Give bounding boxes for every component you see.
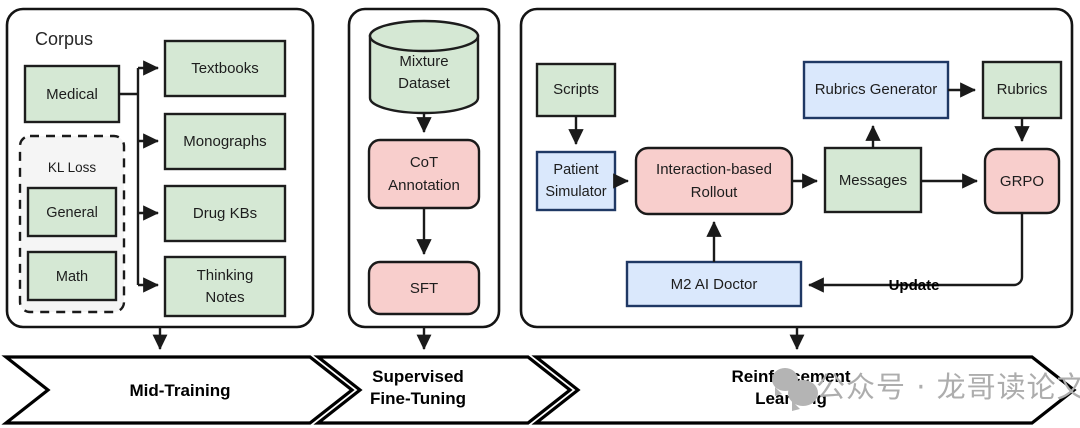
group-kl-loss-label: KL Loss bbox=[48, 160, 97, 175]
stage-label-sft-line1: Supervised bbox=[372, 367, 464, 386]
stage-label-mid-training: Mid-Training bbox=[129, 381, 230, 400]
node-cot-annotation-label-line1: CoT bbox=[410, 154, 438, 171]
node-grpo-label: GRPO bbox=[1000, 173, 1044, 190]
node-scripts-label: Scripts bbox=[553, 81, 599, 98]
node-medical-label: Medical bbox=[46, 86, 98, 103]
node-thinking-notes bbox=[165, 257, 285, 316]
node-drug-kbs-label: Drug KBs bbox=[193, 205, 257, 222]
panel-title-corpus: Corpus bbox=[35, 29, 93, 49]
stage-label-sft-line2: Fine-Tuning bbox=[370, 389, 466, 408]
stage-label-rl-line2: Learning bbox=[755, 389, 827, 408]
node-patient-simulator bbox=[537, 152, 615, 210]
node-sft-label: SFT bbox=[410, 280, 438, 297]
node-interaction-based-rollout-label-line1: Interaction-based bbox=[656, 161, 772, 178]
figure-canvas: Corpus Medical KL Loss General Math Text… bbox=[0, 0, 1080, 428]
node-thinking-notes-label-line1: Thinking bbox=[197, 267, 254, 284]
node-interaction-based-rollout bbox=[636, 148, 792, 214]
node-rubrics-label: Rubrics bbox=[997, 81, 1048, 98]
node-cot-annotation-label-line2: Annotation bbox=[388, 177, 460, 194]
stage-label-rl-line1: Reinforcement bbox=[731, 367, 850, 386]
node-m2-ai-doctor-label: M2 AI Doctor bbox=[671, 276, 758, 293]
edge-label-update: Update bbox=[889, 277, 940, 294]
node-thinking-notes-label-line2: Notes bbox=[205, 289, 244, 306]
node-rubrics-generator-label: Rubrics Generator bbox=[815, 81, 938, 98]
node-patient-simulator-label-line2: Simulator bbox=[545, 184, 606, 200]
node-interaction-based-rollout-label-line2: Rollout bbox=[691, 184, 739, 201]
node-general-label: General bbox=[46, 205, 98, 221]
node-monographs-label: Monographs bbox=[183, 133, 266, 150]
pipeline-diagram: Corpus Medical KL Loss General Math Text… bbox=[0, 0, 1080, 428]
node-textbooks-label: Textbooks bbox=[191, 60, 259, 77]
node-mixture-dataset-label-line1: Mixture bbox=[399, 53, 448, 70]
node-cot-annotation bbox=[369, 140, 479, 208]
node-patient-simulator-label-line1: Patient bbox=[553, 162, 598, 178]
node-mixture-dataset-label-line2: Dataset bbox=[398, 75, 451, 92]
node-math-label: Math bbox=[56, 269, 88, 285]
node-messages-label: Messages bbox=[839, 172, 907, 189]
